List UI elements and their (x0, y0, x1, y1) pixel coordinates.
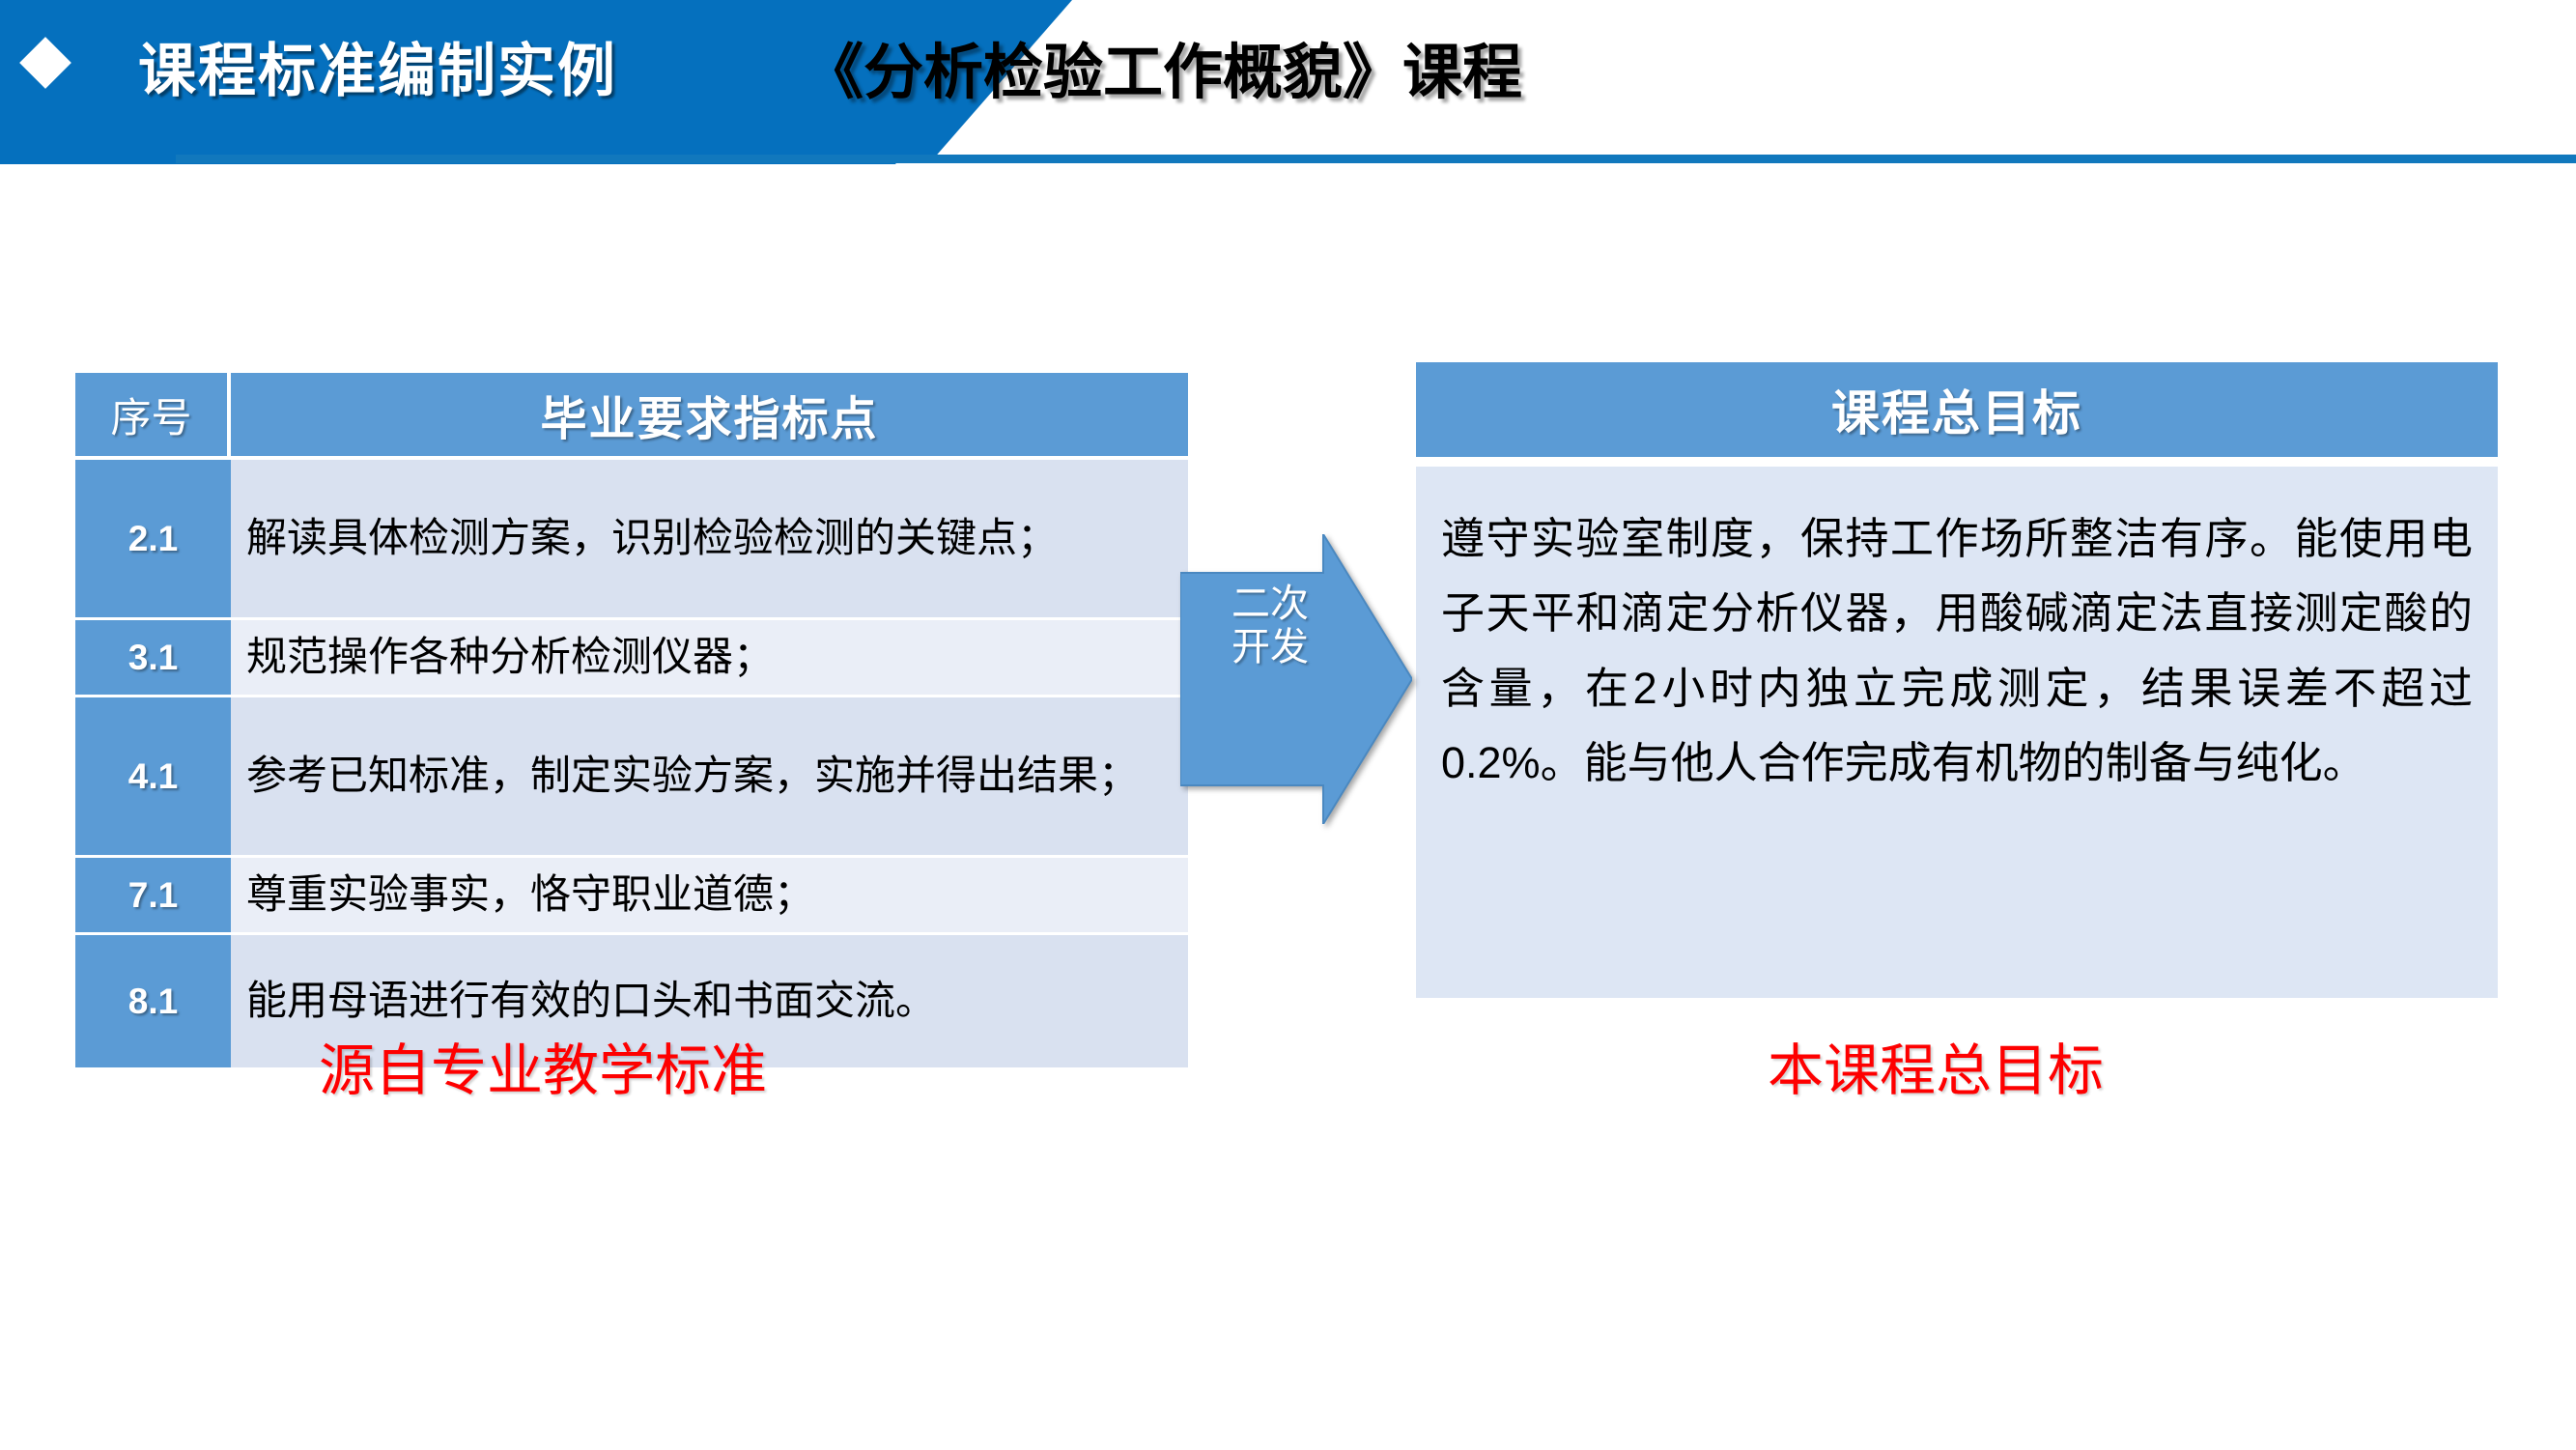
table-row: 2.1 解读具体检测方案，识别检验检测的关键点； (75, 460, 1188, 620)
row-text: 规范操作各种分析检测仪器； (231, 620, 1188, 697)
column-header-indicator: 毕业要求指标点 (231, 373, 1188, 460)
page-subtitle: 《分析检验工作概貌》课程 (804, 23, 1522, 110)
row-no: 8.1 (75, 935, 231, 1070)
caption-source-standard: 源自专业教学标准 (319, 1025, 767, 1106)
right-arrow-icon (1180, 534, 1412, 824)
arrow-label: 二次 开发 (1198, 583, 1343, 669)
row-text: 尊重实验事实，恪守职业道德； (231, 858, 1188, 935)
table-row: 7.1 尊重实验事实，恪守职业道德； (75, 858, 1188, 935)
row-text: 解读具体检测方案，识别检验检测的关键点； (231, 460, 1188, 620)
row-no: 2.1 (75, 460, 231, 620)
column-header-no: 序号 (75, 373, 231, 460)
arrow-label-line1: 二次 (1198, 583, 1343, 626)
row-text: 参考已知标准，制定实验方案，实施并得出结果； (231, 697, 1188, 858)
table-row: 3.1 规范操作各种分析检测仪器； (75, 620, 1188, 697)
table-row: 4.1 参考已知标准，制定实验方案，实施并得出结果； (75, 697, 1188, 858)
caption-course-objective: 本课程总目标 (1768, 1025, 2104, 1106)
row-no: 4.1 (75, 697, 231, 858)
panel-title: 课程总目标 (1416, 362, 2498, 457)
arrow-label-line2: 开发 (1198, 626, 1343, 669)
page-title: 课程标准编制实例 (138, 24, 617, 108)
row-no: 3.1 (75, 620, 231, 697)
graduation-requirements-table: 序号 毕业要求指标点 2.1 解读具体检测方案，识别检验检测的关键点； 3.1 … (75, 373, 1188, 1070)
course-objective-panel: 课程总目标 遵守实验室制度，保持工作场所整洁有序。能使用电子天平和滴定分析仪器，… (1416, 362, 2498, 998)
row-no: 7.1 (75, 858, 231, 935)
table-header-row: 序号 毕业要求指标点 (75, 373, 1188, 460)
header-divider-rule (176, 155, 2576, 163)
panel-body-text: 遵守实验室制度，保持工作场所整洁有序。能使用电子天平和滴定分析仪器，用酸碱滴定法… (1416, 467, 2498, 998)
slide-canvas: 课程标准编制实例 《分析检验工作概貌》课程 序号 毕业要求指标点 2.1 解读具… (0, 0, 2576, 1450)
